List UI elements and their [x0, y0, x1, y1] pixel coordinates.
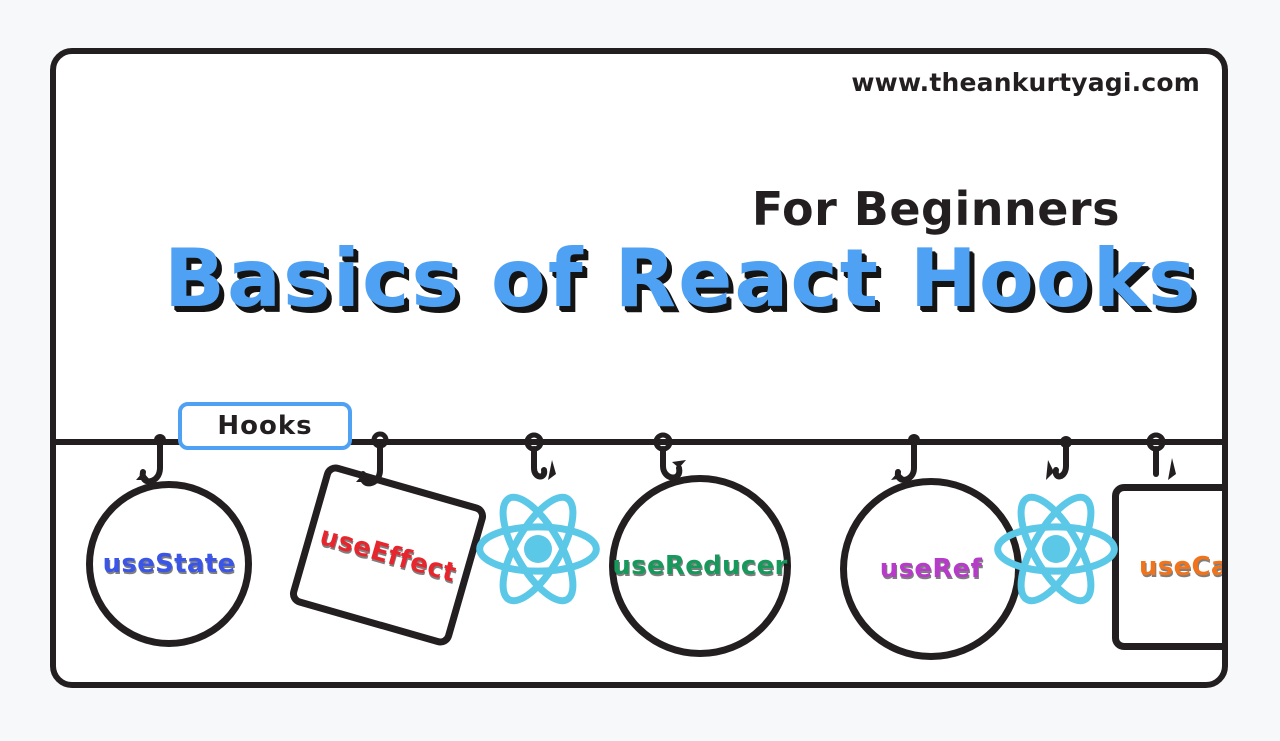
hooks-label-text: Hooks	[217, 411, 312, 441]
poster-canvas: www.theankurtyagi.com For Beginners Basi…	[0, 0, 1280, 741]
hanger-hook-react-right	[1038, 434, 1084, 494]
page-title: Basics of React Hooks	[164, 232, 1198, 325]
hook-item-useref-label: useRef	[880, 554, 982, 584]
hanger-hook-usereducer	[648, 434, 694, 494]
hanger-hook-usecallback	[1138, 434, 1184, 494]
hook-item-usestate[interactable]: useState	[86, 481, 252, 647]
poster-frame: www.theankurtyagi.com For Beginners Basi…	[50, 48, 1228, 688]
site-url: www.theankurtyagi.com	[851, 68, 1200, 97]
hooks-label-box: Hooks	[178, 402, 352, 450]
hook-item-usecallback[interactable]: useCal	[1112, 484, 1228, 650]
hanger-hook-useeffect	[352, 436, 398, 496]
react-logo-icon-right	[986, 486, 1126, 612]
react-logo-icon-left	[468, 486, 608, 612]
hanger-hook-useref	[888, 436, 934, 496]
hook-item-usestate-label: useState	[103, 549, 236, 579]
hook-item-useeffect-label: useEffect	[316, 521, 459, 588]
hook-item-usereducer[interactable]: useReducer	[609, 475, 791, 657]
hanger-hook-usestate	[134, 436, 180, 496]
hook-item-usereducer-label: useReducer	[612, 551, 787, 581]
hook-item-usecallback-label: useCal	[1139, 552, 1228, 582]
kicker-heading: For Beginners	[752, 182, 1120, 236]
hanger-hook-react-left	[518, 434, 564, 494]
